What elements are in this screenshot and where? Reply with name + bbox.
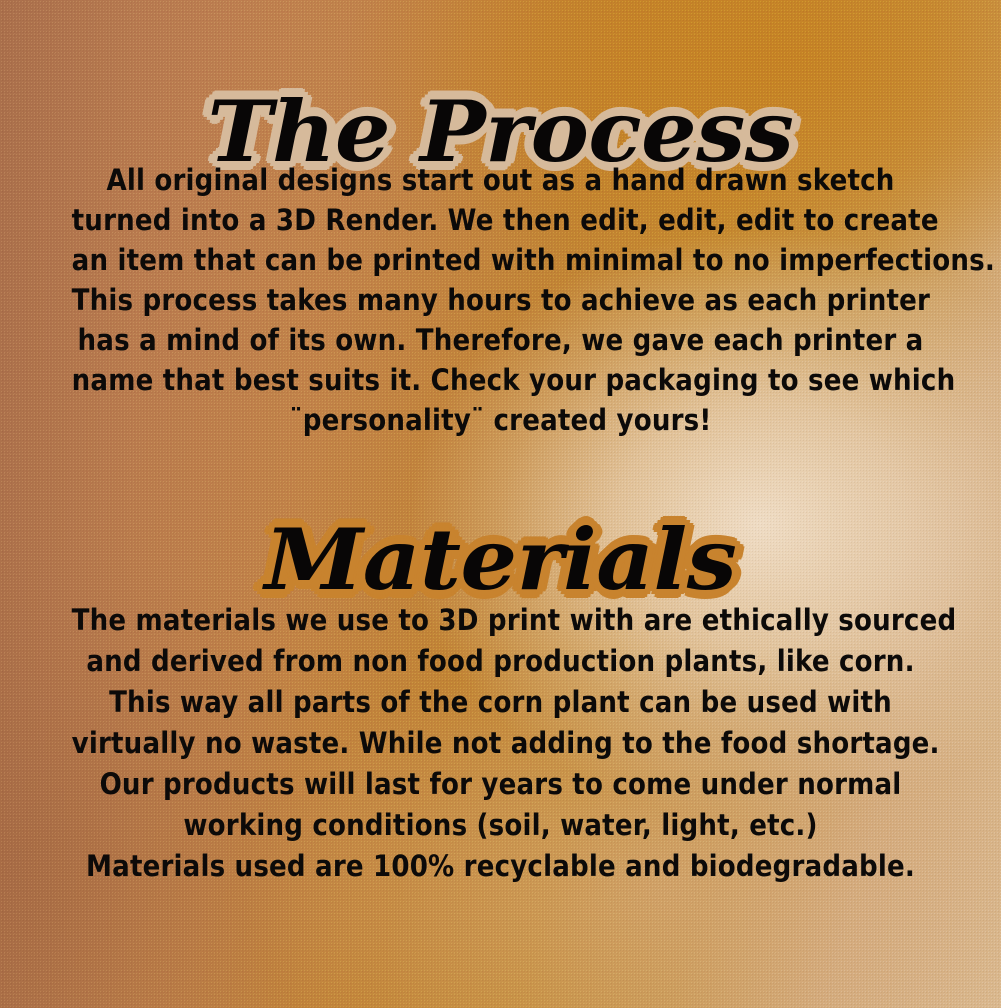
paragraph-line: turned into a 3D Render. We then edit, e…	[72, 200, 930, 240]
poster-content: The Process All original designs start o…	[0, 0, 1001, 1008]
paragraph-line: name that best suits it. Check your pack…	[72, 360, 930, 400]
paragraph-line: has a mind of its own. Therefore, we gav…	[72, 320, 930, 360]
heading-materials: Materials	[0, 518, 1001, 602]
paragraph-materials: The materials we use to 3D print with ar…	[50, 600, 951, 887]
paragraph-line: working conditions (soil, water, light, …	[72, 805, 930, 846]
paragraph-line: ¨personality¨ created yours!	[72, 400, 930, 440]
paragraph-line: All original designs start out as a hand…	[72, 160, 930, 200]
poster-canvas: The Process All original designs start o…	[0, 0, 1001, 1008]
paragraph-line: This process takes many hours to achieve…	[72, 280, 930, 320]
paragraph-line: and derived from non food production pla…	[72, 641, 930, 682]
paragraph-the-process: All original designs start out as a hand…	[50, 160, 951, 440]
paragraph-line: Materials used are 100% recyclable and b…	[72, 846, 930, 887]
paragraph-line: The materials we use to 3D print with ar…	[72, 600, 930, 641]
paragraph-line: This way all parts of the corn plant can…	[72, 682, 930, 723]
paragraph-line: Our products will last for years to come…	[72, 764, 930, 805]
paragraph-line: virtually no waste. While not adding to …	[72, 723, 930, 764]
paragraph-line: an item that can be printed with minimal…	[72, 240, 930, 280]
